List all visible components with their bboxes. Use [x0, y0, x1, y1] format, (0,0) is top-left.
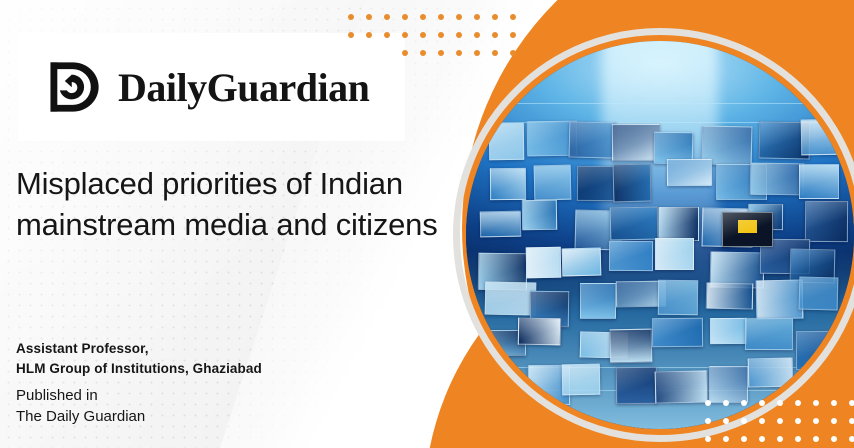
decorative-dot: [384, 50, 390, 56]
publication-credit: Published in The Daily Guardian: [16, 386, 145, 427]
decorative-dot: [402, 14, 408, 20]
decorative-dot: [438, 32, 444, 38]
decorative-dot: [741, 436, 747, 442]
media-screen-tile: [655, 238, 694, 270]
decorative-dot: [723, 436, 729, 442]
decorative-dot: [813, 436, 819, 442]
decorative-dot: [384, 32, 390, 38]
media-screen-tile: [748, 358, 794, 388]
media-screen-tile: [796, 330, 835, 369]
decorative-dot: [420, 32, 426, 38]
decorative-dot: [348, 50, 354, 56]
media-screen-tile: [610, 329, 653, 364]
decorative-dot: [759, 436, 765, 442]
decorative-dot: [366, 32, 372, 38]
media-screen-tile: [609, 241, 653, 271]
decorative-dot: [741, 400, 747, 406]
media-screen-tile: [657, 280, 697, 315]
decorative-dot: [777, 436, 783, 442]
decorative-dot: [795, 400, 801, 406]
decorative-dot: [366, 50, 372, 56]
media-screen-tile: [710, 318, 747, 344]
media-screen-tile: [568, 121, 616, 158]
decorative-dot: [759, 400, 765, 406]
media-screen-tile: [709, 366, 748, 403]
decorative-dot: [795, 436, 801, 442]
media-screen-tile: [744, 318, 792, 350]
decorative-dot: [474, 14, 480, 20]
media-screen-tile: [580, 283, 616, 319]
author-role-line-2: HLM Group of Institutions, Ghaziabad: [16, 359, 416, 379]
media-screen-tile: [522, 199, 558, 230]
decorative-dot: [420, 50, 426, 56]
media-screen-tile: [799, 277, 839, 311]
media-screen-tile: [750, 163, 805, 196]
decorative-dot: [456, 50, 462, 56]
decorative-dot: [474, 50, 480, 56]
decorative-dot: [813, 400, 819, 406]
publication-name: The Daily Guardian: [16, 407, 145, 428]
media-screen-tile-dark: [722, 212, 772, 247]
media-screen-tile: [612, 163, 651, 202]
media-screen-tile: [610, 206, 658, 240]
published-label: Published in: [16, 386, 145, 407]
decorative-dot: [759, 418, 765, 424]
media-screen-tile: [667, 159, 712, 187]
brand-wordmark: DailyGuardian: [118, 64, 369, 111]
media-screen-tile: [484, 281, 536, 315]
decorative-dot: [510, 32, 516, 38]
decorative-dot: [348, 14, 354, 20]
media-screen-tile: [800, 119, 846, 156]
decorative-dot: [492, 14, 498, 20]
media-screen-tile: [616, 366, 657, 404]
media-screen-tile: [658, 207, 699, 241]
media-screen-tile: [756, 280, 804, 320]
media-screen-tile: [526, 247, 562, 278]
media-screen-tile: [577, 166, 616, 202]
decorative-dot: [492, 32, 498, 38]
media-screen-tile: [533, 165, 571, 201]
decorative-dot: [849, 436, 854, 442]
decorative-dot: [795, 418, 801, 424]
decorative-dot: [438, 14, 444, 20]
decorative-dot: [366, 14, 372, 20]
media-screen-tile: [654, 371, 707, 404]
media-collage-image: [466, 41, 854, 429]
decorative-dot: [741, 418, 747, 424]
media-screen-tile: [805, 366, 854, 402]
media-screen-tile: [518, 318, 561, 346]
media-screen-tile: [562, 364, 600, 396]
media-screen-tiles: [466, 41, 854, 429]
media-screen-tile: [490, 168, 526, 200]
media-screen-tile: [484, 370, 520, 405]
media-screen-tile: [805, 201, 849, 242]
decorative-dot: [777, 418, 783, 424]
decorative-dot: [831, 418, 837, 424]
brand-logo-card: DailyGuardian: [18, 33, 405, 141]
decorative-dot: [849, 400, 854, 406]
daily-guardian-logo-icon: [46, 59, 102, 115]
article-promo-card: DailyGuardian Misplaced priorities of In…: [0, 0, 854, 448]
decorative-dot: [402, 50, 408, 56]
article-headline: Misplaced priorities of Indian mainstrea…: [16, 163, 446, 245]
decorative-dot: [777, 400, 783, 406]
decorative-dot: [456, 32, 462, 38]
orange-dot-grid: [348, 14, 516, 56]
decorative-dot: [510, 50, 516, 56]
author-role-line-1: Assistant Professor,: [16, 339, 416, 359]
media-screen-tile: [652, 318, 703, 348]
media-screen-tile: [562, 248, 601, 277]
white-dot-grid: [705, 400, 854, 442]
decorative-dot: [492, 50, 498, 56]
decorative-dot: [831, 400, 837, 406]
decorative-dot: [438, 50, 444, 56]
decorative-dot: [705, 400, 711, 406]
decorative-dot: [705, 436, 711, 442]
media-screen-tile: [489, 123, 525, 161]
decorative-dot: [813, 418, 819, 424]
author-byline: Assistant Professor, HLM Group of Instit…: [16, 339, 416, 378]
media-screen-tile: [799, 164, 839, 199]
decorative-dot: [402, 32, 408, 38]
media-screen-tile: [705, 282, 752, 309]
decorative-dot: [420, 14, 426, 20]
decorative-dot: [849, 418, 854, 424]
decorative-dot: [723, 418, 729, 424]
decorative-dot: [705, 418, 711, 424]
decorative-dot: [348, 32, 354, 38]
decorative-dot: [474, 32, 480, 38]
decorative-dot: [510, 14, 516, 20]
decorative-dot: [384, 14, 390, 20]
media-screen-tile: [480, 211, 521, 238]
decorative-dot: [831, 436, 837, 442]
media-tile-badge: [738, 220, 757, 233]
decorative-dot: [723, 400, 729, 406]
decorative-dot: [456, 14, 462, 20]
